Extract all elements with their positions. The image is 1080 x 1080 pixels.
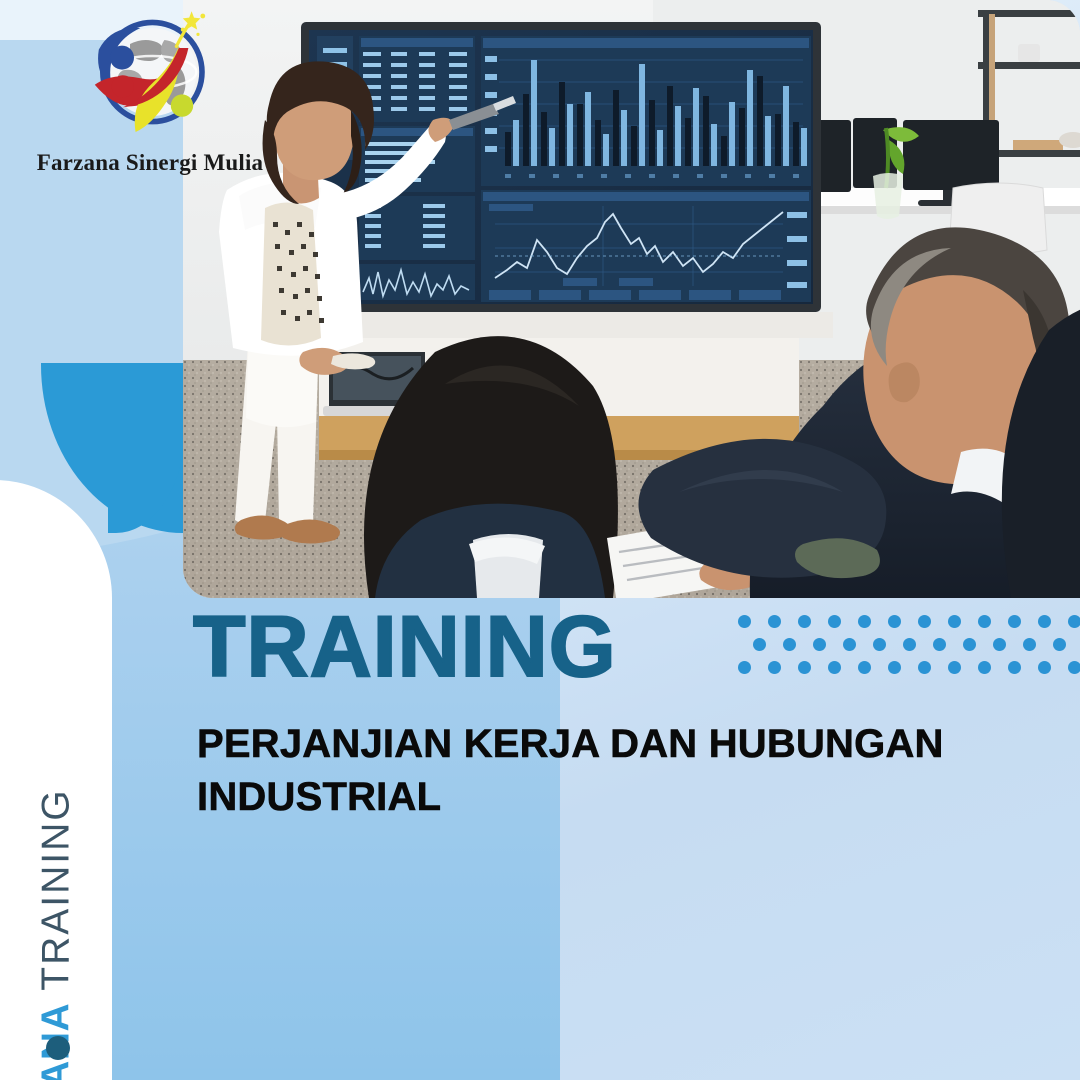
dot [888, 615, 901, 628]
bullet-dot-icon [46, 1036, 70, 1060]
dot [993, 638, 1006, 651]
dot [918, 661, 931, 674]
dot [813, 638, 826, 651]
dot [798, 615, 811, 628]
dot [738, 615, 751, 628]
dot [978, 661, 991, 674]
dot [903, 638, 916, 651]
dot [768, 661, 781, 674]
dot [963, 638, 976, 651]
dot [888, 661, 901, 674]
dot [843, 638, 856, 651]
globe-people-logo-icon [70, 8, 230, 148]
training-session-photo [183, 0, 1080, 598]
dot-row [738, 656, 1080, 679]
page-subtitle: PERJANJIAN KERJA DAN HUBUNGAN INDUSTRIAL [197, 718, 987, 824]
dot [948, 615, 961, 628]
dot [738, 661, 751, 674]
photo-illustration [183, 0, 1080, 598]
brand-wordmark: Farzana Sinergi Mulia [0, 150, 300, 176]
dot [798, 661, 811, 674]
dot-grid-pattern [738, 610, 1080, 678]
dot [828, 661, 841, 674]
dot [918, 615, 931, 628]
dot [1023, 638, 1036, 651]
vertical-label-light: TRAINING [35, 788, 78, 1002]
dot [1053, 638, 1066, 651]
dot [1038, 615, 1051, 628]
page-title: TRAINING [193, 604, 617, 690]
dot [828, 615, 841, 628]
dot [933, 638, 946, 651]
vertical-brand-label: FARZANA TRAINING [0, 560, 112, 1010]
dot [1038, 661, 1051, 674]
brand-logo-block: Farzana Sinergi Mulia [0, 8, 300, 176]
dot-row [738, 610, 1080, 633]
dot [1068, 661, 1080, 674]
dot [1008, 661, 1021, 674]
dot [753, 638, 766, 651]
dot-row [738, 633, 1080, 656]
dot [1008, 615, 1021, 628]
poster-canvas: Farzana Sinergi Mulia [0, 0, 1080, 1080]
dot [783, 638, 796, 651]
dot [1068, 615, 1080, 628]
dot [768, 615, 781, 628]
dot [948, 661, 961, 674]
dot [978, 615, 991, 628]
dot [858, 661, 871, 674]
dot [858, 615, 871, 628]
dot [873, 638, 886, 651]
